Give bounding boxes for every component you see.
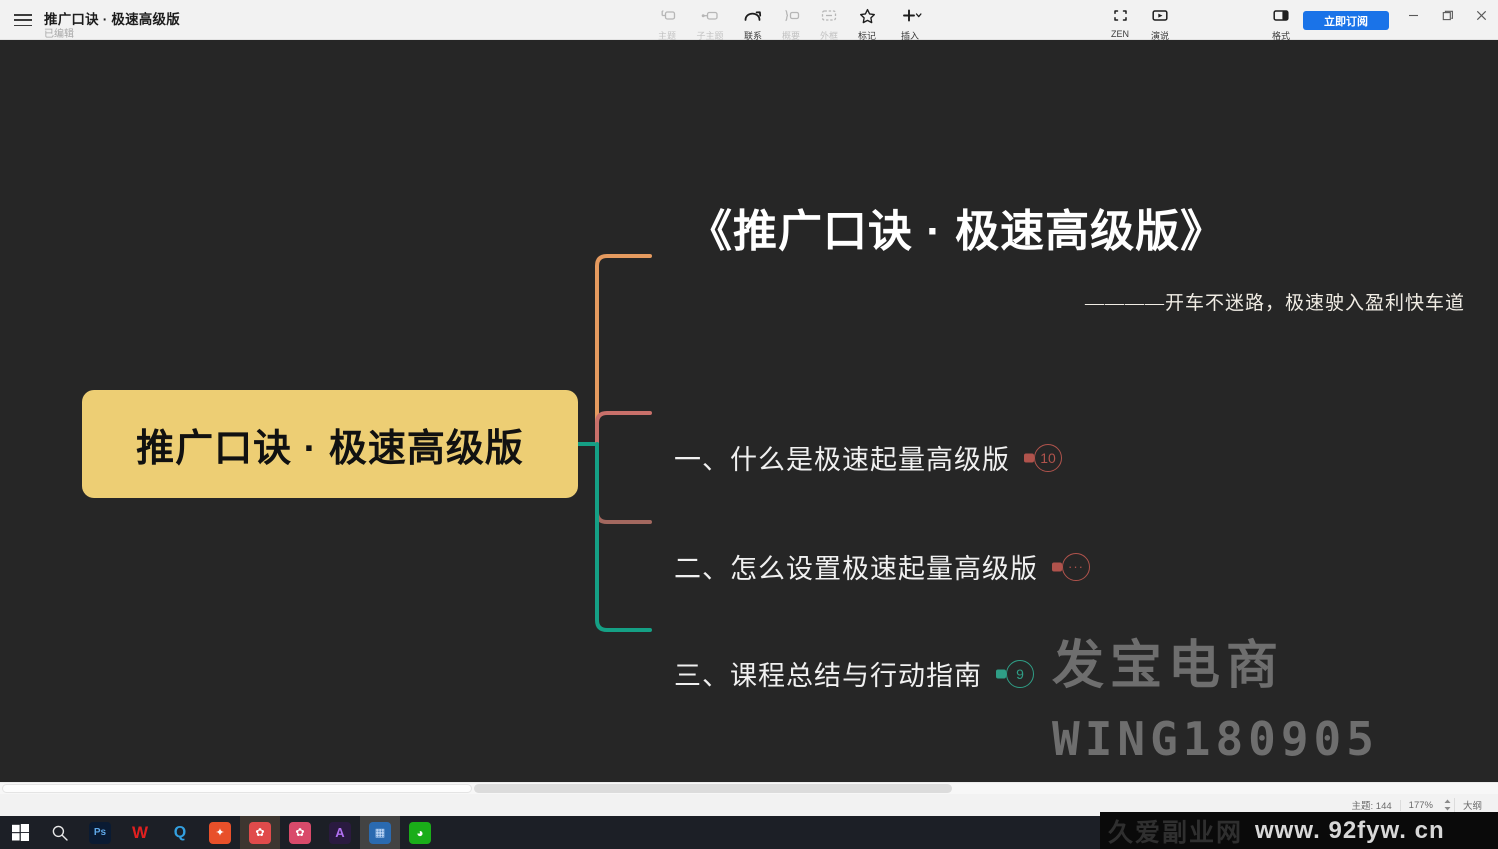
taskbar-app-ai[interactable]: A <box>320 816 360 849</box>
window-controls <box>1396 0 1498 30</box>
subtopic-icon <box>701 6 720 25</box>
taskbar-app-wps[interactable]: W <box>120 816 160 849</box>
status-zoom-level[interactable]: 177% <box>1400 800 1441 811</box>
toolbar-button-presentation[interactable]: 演说 <box>1140 3 1180 42</box>
banner-url: www. 92fyw. cn <box>1255 817 1445 845</box>
wps-icon: W <box>129 822 151 844</box>
wechat-icon: ◕ <box>409 822 431 844</box>
taskbar-app-photoshop[interactable]: Ps <box>80 816 120 849</box>
banner-site-name: 久爱副业网 <box>1108 813 1243 849</box>
taskbar-app-xmind-1[interactable]: ✦ <box>200 816 240 849</box>
branch-topic-3-badge[interactable]: 9 <box>1006 660 1034 688</box>
toolbar-button-zen[interactable]: ZEN <box>1100 3 1140 39</box>
taskbar-app-qq[interactable]: Q <box>160 816 200 849</box>
branch-topic-1-badge[interactable]: 10 <box>1034 444 1062 472</box>
horizontal-scrollbar[interactable] <box>0 782 1498 794</box>
close-icon[interactable] <box>1464 0 1498 30</box>
toolbar-button-relation[interactable]: 联系 <box>734 3 772 42</box>
qq-icon: Q <box>169 822 191 844</box>
zen-icon <box>1112 6 1129 25</box>
branch-topic-3-text: 三、课程总结与行动指南 <box>674 654 982 693</box>
video-app-icon: ▦ <box>369 822 391 844</box>
site-watermark-banner: 久爱副业网 www. 92fyw. cn <box>1100 812 1498 849</box>
taskbar-app-xmind-3[interactable]: ✿ <box>280 816 320 849</box>
scrollbar-thumb[interactable] <box>2 784 472 793</box>
presentation-icon <box>1151 6 1169 25</box>
map-subtitle-topic[interactable]: ————开车不迷路，极速驶入盈利快车道 <box>1085 288 1465 315</box>
branch-topic-3[interactable]: 三、课程总结与行动指南 9 <box>674 654 1034 693</box>
status-topic-count: 主题: 144 <box>1344 798 1400 812</box>
start-button[interactable] <box>0 816 40 849</box>
taskbar-app-video[interactable]: ▦ <box>360 816 400 849</box>
status-outline-button[interactable]: 大纲 <box>1454 798 1490 812</box>
xmind-icon-2: ✿ <box>249 822 271 844</box>
scrollbar-track-right[interactable] <box>474 784 952 793</box>
hamburger-icon[interactable] <box>12 11 34 29</box>
taskbar-app-xmind-2[interactable]: ✿ <box>240 816 280 849</box>
branch-topic-1[interactable]: 一、什么是极速起量高级版 10 <box>674 438 1062 477</box>
central-topic-node[interactable]: 推广口诀 · 极速高级版 <box>82 390 578 498</box>
photoshop-icon: Ps <box>89 822 111 844</box>
search-button[interactable] <box>40 816 80 849</box>
topic-icon <box>659 6 676 25</box>
insert-plus-icon <box>897 6 923 25</box>
boundary-icon <box>820 6 838 25</box>
format-panel-icon <box>1272 6 1290 25</box>
branch-topic-1-text: 一、什么是极速起量高级版 <box>674 438 1010 477</box>
summary-icon <box>782 6 801 25</box>
branch-topic-2-badge[interactable]: ··· <box>1062 553 1090 581</box>
toolbar-button-marker[interactable]: 标记 <box>848 3 886 42</box>
watermark-line-1: 发宝电商 <box>1052 623 1284 698</box>
xmind-icon-3: ✿ <box>289 822 311 844</box>
minimize-icon[interactable] <box>1396 0 1430 30</box>
taskbar-app-wechat[interactable]: ◕ <box>400 816 440 849</box>
toolbar-right: ZEN 演说 <box>1100 3 1180 42</box>
toolbar-button-format[interactable]: 格式 <box>1262 3 1300 42</box>
branch-topic-2[interactable]: 二、怎么设置极速起量高级版 ··· <box>674 547 1090 586</box>
toolbar-button-topic[interactable]: 主题 <box>648 3 686 42</box>
title-bar: 推广口诀 · 极速高级版 已编辑 主题 子主题 联系 <box>0 0 1498 40</box>
central-topic-text: 推广口诀 · 极速高级版 <box>136 417 524 472</box>
subscribe-button[interactable]: 立即订阅 <box>1303 11 1389 30</box>
toolbar-label-zen: ZEN <box>1111 29 1129 39</box>
marker-icon <box>859 6 876 25</box>
watermark-line-2: WING180905 <box>1052 712 1379 766</box>
maximize-icon[interactable] <box>1430 0 1464 30</box>
ai-app-icon: A <box>329 822 351 844</box>
zoom-stepper-icon[interactable] <box>1441 798 1454 812</box>
document-status: 已编辑 <box>44 25 74 40</box>
map-title-topic[interactable]: 《推广口诀 · 极速高级版》 <box>688 195 1225 259</box>
app-window: 推广口诀 · 极速高级版 已编辑 主题 子主题 联系 <box>0 0 1498 849</box>
toolbar-button-boundary[interactable]: 外框 <box>810 3 848 42</box>
toolbar-button-summary[interactable]: 概要 <box>772 3 810 42</box>
branch-topic-2-text: 二、怎么设置极速起量高级版 <box>674 547 1038 586</box>
xmind-icon-1: ✦ <box>209 822 231 844</box>
toolbar: 主题 子主题 联系 概要 <box>648 3 934 42</box>
mindmap-canvas[interactable]: 推广口诀 · 极速高级版 《推广口诀 · 极速高级版》 ————开车不迷路，极速… <box>0 40 1498 782</box>
relation-icon <box>743 6 763 25</box>
toolbar-button-subtopic[interactable]: 子主题 <box>686 3 734 42</box>
toolbar-button-insert[interactable]: 插入 <box>886 3 934 42</box>
